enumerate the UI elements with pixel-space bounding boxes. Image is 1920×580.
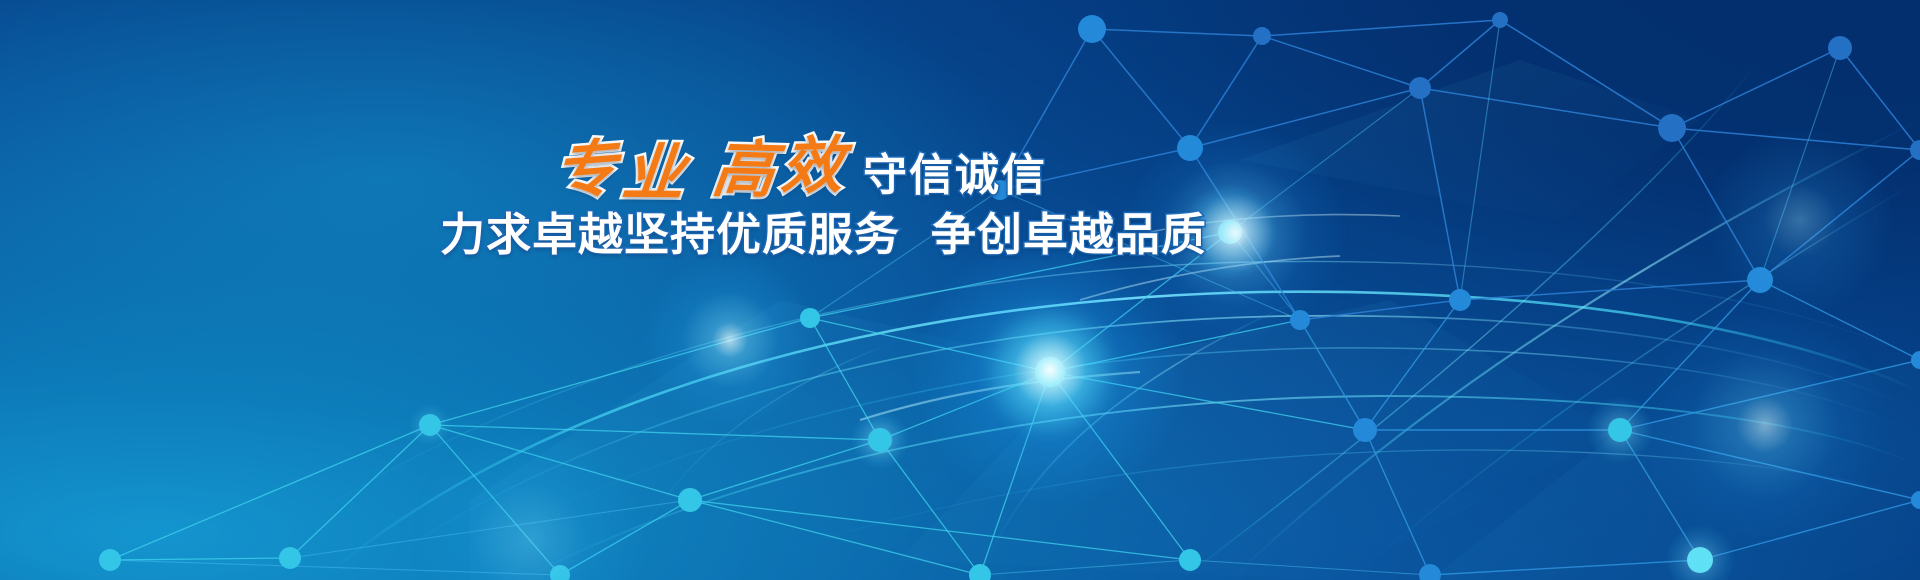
brush-char-1: 专 xyxy=(554,137,623,204)
slogan-service-text: 力求卓越坚持优质服务 xyxy=(440,208,900,261)
background-vignette xyxy=(0,0,1920,580)
slogan-brush-text: 专业高效 xyxy=(553,134,867,204)
slogan-quality-text: 争创卓越品质 xyxy=(931,208,1207,261)
promo-banner: .ln-d{stroke:#2b7fd4;stroke-width:1.5;fi… xyxy=(0,0,1920,580)
headline-block: 专业高效 守信诚信 力求卓越坚持优质服务 争创卓越品质 xyxy=(440,138,1160,257)
headline-line-2: 力求卓越坚持优质服务 争创卓越品质 xyxy=(440,212,1160,257)
brush-spacer xyxy=(690,190,712,191)
brush-char-3: 高 xyxy=(709,138,784,202)
headline-line-1: 专业高效 守信诚信 xyxy=(440,138,1160,200)
brush-char-2: 业 xyxy=(620,142,694,205)
slogan-trust-text: 守信诚信 xyxy=(863,154,1047,198)
brush-char-4: 效 xyxy=(779,134,851,198)
